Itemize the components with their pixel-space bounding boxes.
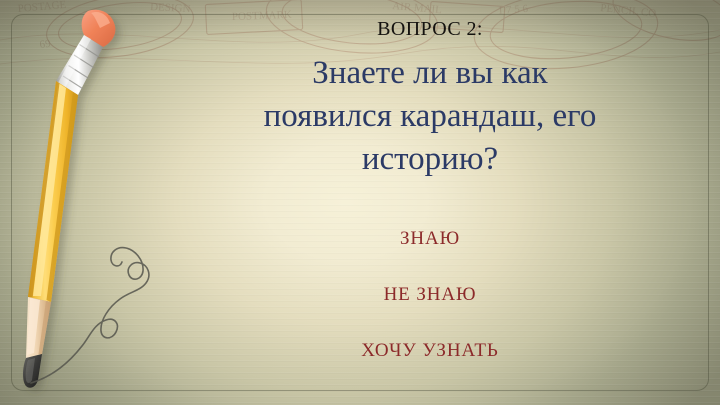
question-line-3: историю?: [152, 138, 708, 181]
pencil-body-part: [28, 81, 78, 302]
pencil-wood-tip-part: [26, 297, 51, 358]
slide-canvas: POSTAGE DESIGN POSTMARK AIR MAIL 1 7 5 6…: [0, 0, 720, 405]
answer-options-list: ЗНАЮ НЕ ЗНАЮ ХОЧУ УЗНАТЬ: [160, 228, 700, 362]
question-title: Знаете ли вы как появился карандаш, его …: [152, 52, 708, 181]
answer-option-hochu-uznat[interactable]: ХОЧУ УЗНАТЬ: [160, 340, 700, 362]
question-line-1: Знаете ли вы как: [152, 52, 708, 95]
answer-option-ne-znayu[interactable]: НЕ ЗНАЮ: [160, 284, 700, 306]
question-line-2: появился карандаш, его: [152, 95, 708, 138]
question-number-kicker: ВОПРОС 2:: [160, 18, 700, 41]
answer-option-znayu[interactable]: ЗНАЮ: [160, 228, 700, 250]
